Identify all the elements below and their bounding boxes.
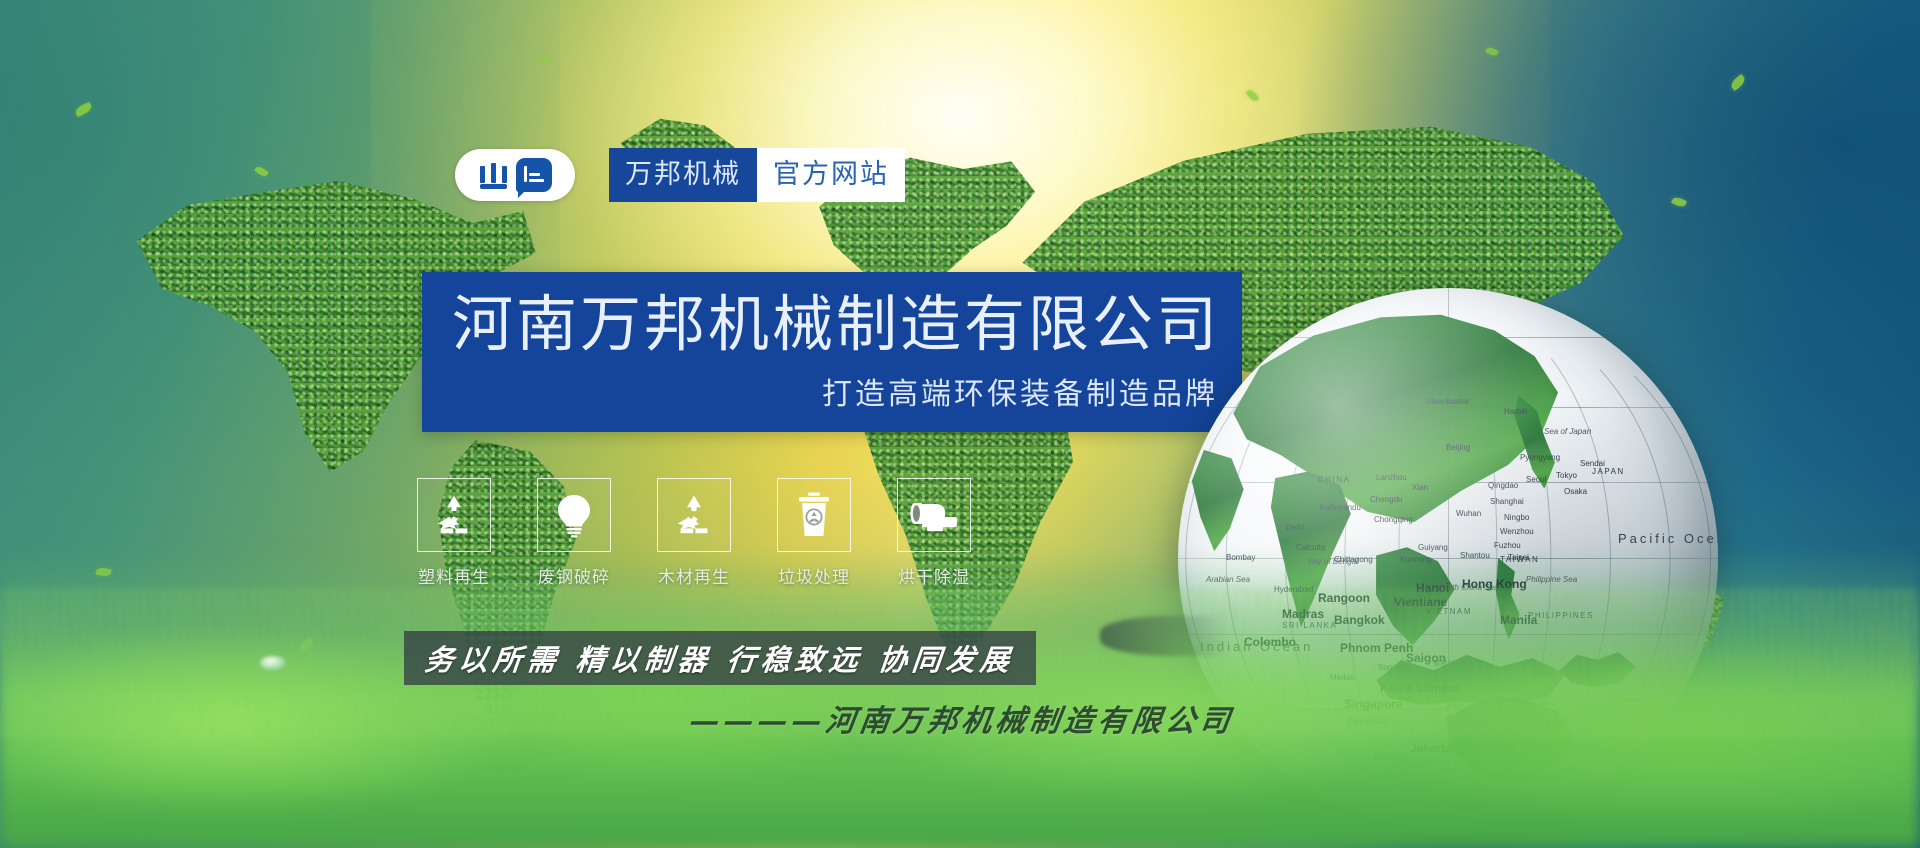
globe-city-label: Lanzhou (1376, 474, 1407, 482)
lightbulb-icon (537, 478, 611, 552)
tagline-text: 务以所需 精以制器 行稳致远 协同发展 (423, 637, 1017, 679)
globe-city-label: Ningbo (1504, 514, 1529, 522)
dryer-blower-icon (897, 478, 971, 552)
hero-banner: 万邦机械 官方网站 河南万邦机械制造有限公司 打造高端环保装备制造品牌 (0, 0, 1920, 848)
globe-city-label: Ulaanbaatar (1426, 398, 1470, 406)
tagline-signature: ————河南万邦机械制造有限公司 (687, 696, 1237, 740)
brand-header[interactable]: 万邦机械 官方网站 (455, 148, 905, 202)
recycle-icon (657, 478, 731, 552)
tab-official-site[interactable]: 官方网站 (757, 148, 905, 202)
globe-country-label: CHINA (1318, 476, 1350, 484)
globe-city-label: Osaka (1564, 488, 1587, 496)
logo-w-icon (479, 161, 509, 189)
globe-city-label: Wenzhou (1500, 528, 1534, 536)
recycle-icon (417, 478, 491, 552)
wanbang-logo[interactable] (455, 149, 575, 201)
brand-tabs[interactable]: 万邦机械 官方网站 (609, 148, 905, 202)
grass-stem-accent (1100, 616, 1280, 656)
globe-city-label: Shanghai (1490, 498, 1524, 506)
globe-city-label: Chongqing (1374, 516, 1413, 524)
globe-city-label: Pyongyang (1520, 454, 1560, 462)
globe-ocean-label: Pacific Ocean (1618, 532, 1718, 545)
dew-drop (260, 656, 286, 670)
tagline-band: 务以所需 精以制器 行稳致远 协同发展 (404, 631, 1036, 685)
globe-city-label: Chengdu (1370, 496, 1402, 504)
globe-city-label: Beijing (1446, 444, 1470, 452)
globe-country-label: JAPAN (1592, 468, 1625, 476)
globe-sea-label: Sea of Japan (1544, 428, 1591, 436)
globe-city-label: Seoul (1526, 476, 1546, 484)
trash-bin-icon (777, 478, 851, 552)
globe-city-label: Qingdao (1488, 482, 1518, 490)
hero-title-panel: 河南万邦机械制造有限公司 打造高端环保装备制造品牌 (422, 272, 1242, 432)
globe-city-label: Harbin (1504, 408, 1528, 416)
globe-city-label: Kathmandu (1320, 504, 1361, 512)
globe-city-label: Tokyo (1556, 472, 1577, 480)
company-title: 河南万邦机械制造有限公司 (452, 294, 1220, 355)
globe-city-label: Xian (1412, 484, 1428, 492)
globe-city-label: Sendai (1580, 460, 1605, 468)
tab-company-name[interactable]: 万邦机械 (609, 148, 757, 202)
globe-city-label: Wuhan (1456, 510, 1481, 518)
logo-speech-bubble-icon (516, 158, 552, 192)
globe-city-label: Delhi (1286, 524, 1304, 532)
company-subtitle: 打造高端环保装备制造品牌 (822, 380, 1218, 410)
